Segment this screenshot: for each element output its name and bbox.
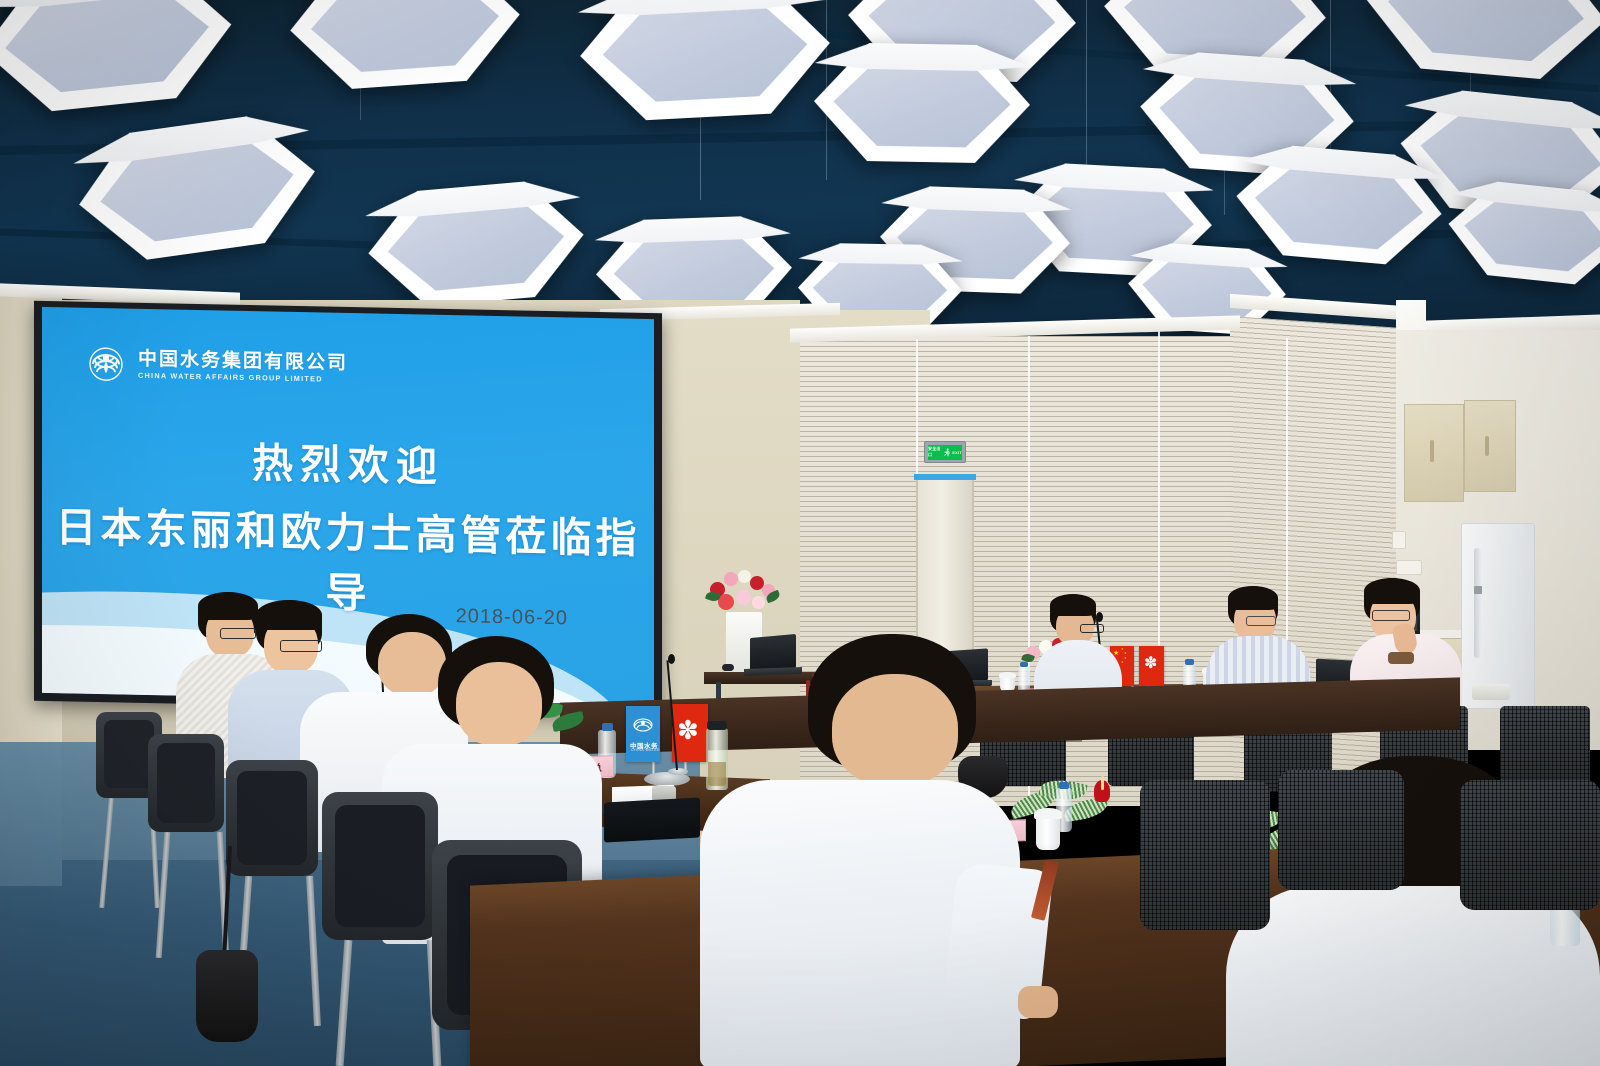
conference-room-photo: 安全出口 EXIT bbox=[0, 0, 1600, 1066]
chair-back[interactable] bbox=[322, 792, 438, 940]
hong-kong-sar-flag: ✽ bbox=[1139, 646, 1164, 686]
ceiling-hex-panel bbox=[813, 42, 1031, 164]
ceiling-hex-panel bbox=[286, 0, 524, 93]
ceiling-hex-panel bbox=[0, 0, 238, 118]
glasses bbox=[1080, 624, 1104, 633]
upper-cabinet[interactable] bbox=[1404, 404, 1464, 502]
slide-date: 2018-06-20 bbox=[456, 605, 568, 630]
chair-back[interactable] bbox=[1460, 780, 1600, 910]
laptop-closed[interactable] bbox=[604, 797, 700, 842]
fridge-handle[interactable] bbox=[1474, 548, 1481, 658]
china-water-swirl-logo-icon bbox=[86, 344, 126, 385]
microphone-head bbox=[668, 654, 675, 664]
light-switch[interactable] bbox=[1396, 560, 1422, 575]
ceiling-hex-panel bbox=[1444, 177, 1600, 289]
person-foreground-center bbox=[700, 634, 1020, 1066]
slide-logo-cn: 中国水务集团有限公司 bbox=[138, 350, 348, 374]
refrigerator[interactable] bbox=[1461, 523, 1535, 709]
ceiling bbox=[0, 0, 1600, 340]
light-switch[interactable] bbox=[1392, 531, 1406, 549]
wristwatch bbox=[1388, 652, 1414, 664]
cabinet-handle[interactable] bbox=[1430, 440, 1434, 462]
fridge-lock bbox=[1474, 586, 1482, 594]
hand bbox=[1018, 986, 1058, 1018]
chair-back[interactable] bbox=[1278, 770, 1404, 890]
flower-arrangement bbox=[704, 566, 784, 616]
china-water-company-flag: 中国水务 CHINA WATER bbox=[626, 706, 660, 762]
ceiling-hex-panel bbox=[577, 0, 834, 123]
chair-back[interactable] bbox=[148, 734, 224, 832]
handbag[interactable] bbox=[196, 950, 258, 1042]
slide-logo-block: 中国水务集团有限公司 CHINA WATER AFFAIRS GROUP LIM… bbox=[86, 344, 348, 389]
cabinet-handle[interactable] bbox=[1485, 436, 1489, 456]
glasses bbox=[1372, 610, 1410, 621]
chair-back[interactable] bbox=[1140, 780, 1270, 930]
chair-back[interactable] bbox=[1500, 706, 1590, 790]
exit-sign-en-label: EXIT bbox=[952, 450, 962, 455]
ceiling-hex-panel bbox=[363, 177, 588, 311]
door-header-light bbox=[914, 474, 976, 480]
desk-phone[interactable] bbox=[1472, 684, 1510, 700]
exit-sign-cn-label: 安全出口 bbox=[928, 446, 942, 458]
wall-seam bbox=[916, 338, 918, 478]
tea-cup[interactable] bbox=[1036, 816, 1060, 850]
upper-cabinet[interactable] bbox=[1464, 400, 1516, 492]
chair-back[interactable] bbox=[226, 760, 318, 876]
slide-headline: 热烈欢迎 bbox=[42, 425, 654, 497]
emergency-exit-sign: 安全出口 EXIT bbox=[924, 441, 966, 463]
glasses bbox=[1246, 616, 1276, 626]
running-man-icon bbox=[943, 447, 951, 458]
